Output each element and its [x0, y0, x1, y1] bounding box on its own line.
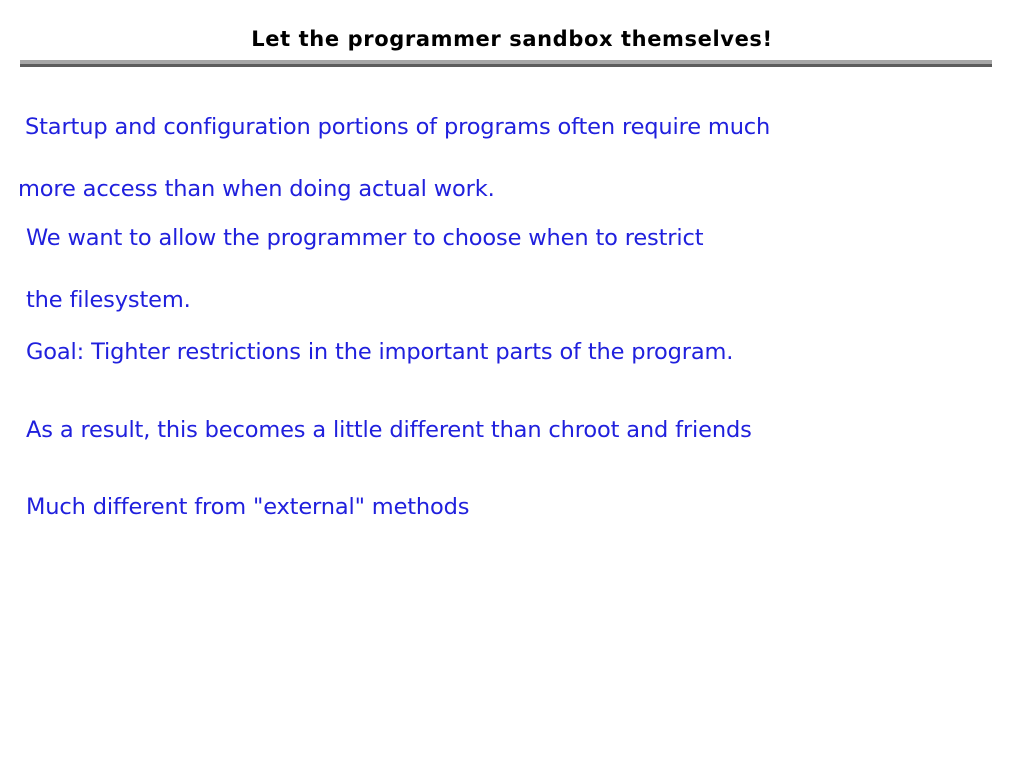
body-line: Startup and configuration portions of pr…: [18, 114, 770, 140]
slide-body: Startup and configuration portions of pr…: [0, 0, 1024, 768]
body-paragraph-different-from-external: Much different from "external" methods: [26, 461, 966, 523]
body-line: We want to allow the programmer to choos…: [26, 225, 703, 251]
slide: Let the programmer sandbox themselves! S…: [0, 0, 1024, 768]
body-paragraph-different-from-chroot: As a result, this becomes a little diffe…: [26, 384, 966, 446]
body-line: Much different from "external" methods: [26, 494, 469, 520]
body-paragraph-startup-configuration: Startup and configuration portions of pr…: [18, 81, 978, 205]
body-line: As a result, this becomes a little diffe…: [26, 417, 752, 443]
body-line: Goal: Tighter restrictions in the import…: [26, 339, 733, 365]
body-paragraph-programmer-choice: We want to allow the programmer to choos…: [26, 192, 966, 316]
body-paragraph-goal: Goal: Tighter restrictions in the import…: [26, 306, 966, 368]
